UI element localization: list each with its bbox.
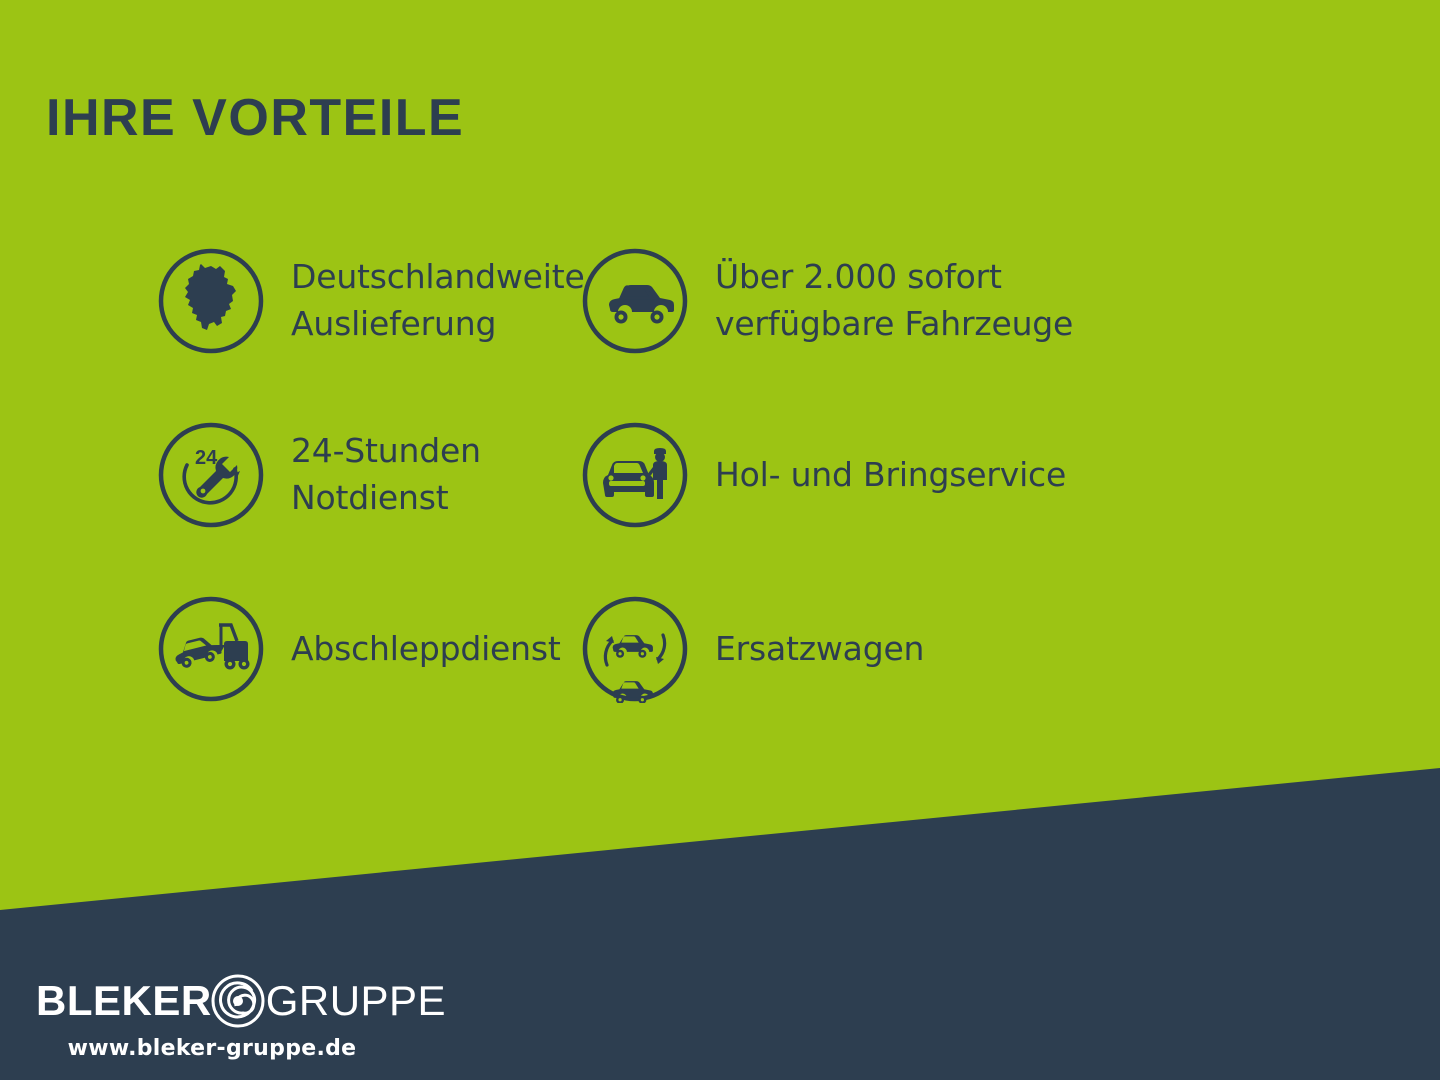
promo-slide: IHRE VORTEILE Deutschlandweite Ausliefer… — [0, 0, 1440, 1080]
svg-text:24: 24 — [195, 447, 218, 469]
benefit-item-ersatzwagen[interactable]: Ersatzwagen — [560, 562, 1280, 736]
benefit-item-verfuegbare-fahrzeuge[interactable]: Über 2.000 sofort verfügbare Fahrzeuge — [560, 214, 1280, 388]
benefit-row: Deutschlandweite Auslieferung — [0, 214, 1440, 388]
benefit-label-line1: Abschleppdienst — [291, 629, 561, 668]
car-with-driver-icon — [581, 421, 689, 529]
germany-map-icon — [157, 247, 265, 355]
benefit-label-line2: Auslieferung — [291, 301, 585, 348]
benefit-item-deutschlandweite-auslieferung[interactable]: Deutschlandweite Auslieferung — [0, 214, 560, 388]
footer-logo[interactable]: BLEKER GRUPPE www.bleker-gruppe.de — [36, 975, 436, 1061]
benefits-grid: Deutschlandweite Auslieferung — [0, 214, 1440, 736]
benefit-row: Abschleppdienst — [0, 562, 1440, 736]
benefit-row: 24 24-Stunden Notdienst — [0, 388, 1440, 562]
tow-truck-icon — [157, 595, 265, 703]
benefit-item-abschleppdienst[interactable]: Abschleppdienst — [0, 562, 560, 736]
logo-name-bleker: BLEKER — [36, 980, 212, 1022]
page-title: IHRE VORTEILE — [46, 88, 464, 148]
logo-wordmark: BLEKER GRUPPE — [36, 975, 436, 1027]
benefit-label-line1: Deutschlandweite — [291, 257, 585, 296]
benefit-label-line1: Über 2.000 sofort — [715, 257, 1002, 296]
benefit-item-hol-und-bringservice[interactable]: Hol- und Bringservice — [560, 388, 1280, 562]
benefit-label-line1: Hol- und Bringservice — [715, 455, 1066, 494]
24-hour-wrench-icon: 24 — [157, 421, 265, 529]
benefit-label: 24-Stunden Notdienst — [291, 428, 481, 522]
benefit-label: Deutschlandweite Auslieferung — [291, 254, 585, 348]
benefit-label-line2: Notdienst — [291, 475, 481, 522]
benefit-label-line1: 24-Stunden — [291, 431, 481, 470]
logo-name-gruppe: GRUPPE — [266, 980, 446, 1022]
benefit-label: Hol- und Bringservice — [715, 452, 1066, 499]
benefit-label: Abschleppdienst — [291, 626, 561, 673]
replacement-car-icon — [581, 595, 689, 703]
spiral-swirl-icon — [208, 971, 268, 1031]
car-side-icon — [581, 247, 689, 355]
benefit-item-24-stunden-notdienst[interactable]: 24 24-Stunden Notdienst — [0, 388, 560, 562]
benefit-label-line2: verfügbare Fahrzeuge — [715, 301, 1073, 348]
benefit-label: Über 2.000 sofort verfügbare Fahrzeuge — [715, 254, 1073, 348]
logo-website-url[interactable]: www.bleker-gruppe.de — [36, 1036, 388, 1061]
benefit-label-line1: Ersatzwagen — [715, 629, 924, 668]
benefit-label: Ersatzwagen — [715, 626, 924, 673]
